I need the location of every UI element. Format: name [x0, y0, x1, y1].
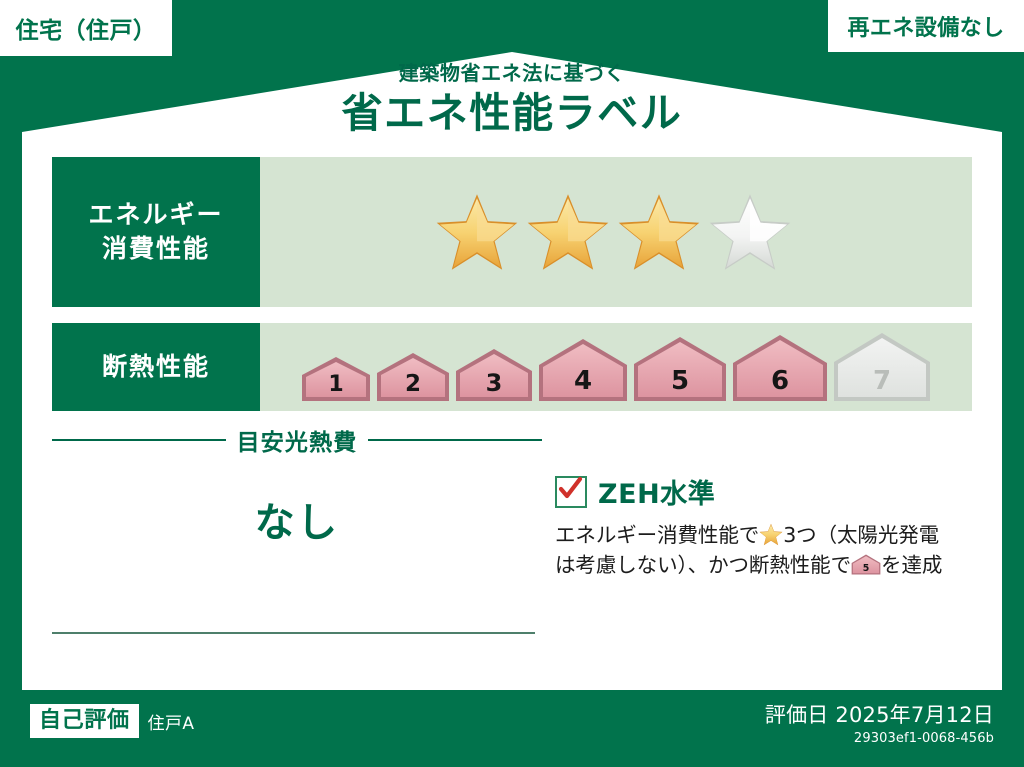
insulation-grade-house-6: 6 [731, 333, 829, 403]
star-icon-filled-2 [526, 191, 610, 273]
svg-text:1: 1 [328, 372, 343, 397]
star-icon-filled-3 [617, 191, 701, 273]
footer: 自己評価 住戸A 評価日 2025年7月12日 29303ef1-0068-45… [0, 690, 1024, 767]
insulation-performance-label: 断熱性能 [52, 323, 260, 411]
insulation-performance-body: 1 2 [260, 323, 972, 411]
utility-cost-bottom-rule [52, 632, 535, 634]
insulation-grade-house-4: 4 [537, 337, 629, 403]
self-evaluation-badge: 自己評価 [30, 704, 139, 738]
insulation-performance-row: 断熱性能 1 [52, 323, 972, 411]
star-icon-filled-1 [435, 191, 519, 273]
energy-performance-label: 住宅（住戸） 再エネ設備なし 建築物省エネ法に基づく 省エネ性能ラベル エネルギ… [0, 0, 1024, 767]
label-card: エネルギー 消費性能 [30, 145, 994, 678]
insulation-grade-house-7: 7 [832, 331, 932, 403]
zeh-title: ZEH水準 [598, 472, 715, 511]
insulation-grade-house-2: 2 [375, 351, 451, 403]
zeh-description-part2: は考慮しない）、かつ断熱性能で [555, 553, 851, 577]
star-icon-inline [759, 523, 783, 546]
footer-left: 自己評価 住戸A [30, 704, 194, 738]
energy-performance-body [260, 157, 972, 307]
svg-text:5: 5 [671, 366, 689, 396]
renewable-equipment-badge-label: 再エネ設備なし [847, 10, 1004, 42]
zeh-description-star-count: 3つ（太陽光発電 [783, 523, 939, 547]
building-type-badge-label: 住宅（住戸） [16, 11, 157, 45]
label-id: 29303ef1-0068-456b [765, 731, 994, 746]
insulation-grade-house-1: 1 [300, 355, 372, 403]
zeh-description-part3: を達成 [881, 553, 942, 577]
svg-text:3: 3 [486, 369, 503, 397]
check-icon [556, 475, 584, 503]
rule-right [368, 439, 542, 441]
svg-text:6: 6 [771, 366, 789, 396]
zeh-title-row: ZEH水準 [555, 472, 975, 511]
insulation-grade-house-3: 3 [454, 347, 534, 403]
renewable-equipment-badge: 再エネ設備なし [828, 0, 1024, 52]
energy-performance-label-line2: 消費性能 [102, 234, 210, 263]
dwelling-name: 住戸A [148, 709, 195, 734]
zeh-standard-block: ZEH水準 エネルギー消費性能で 3つ（太陽光発電は考慮しない）、かつ断熱性能で [555, 472, 975, 581]
svg-text:5: 5 [863, 563, 870, 574]
evaluation-date: 評価日 2025年7月12日 [765, 702, 994, 728]
star-rating [435, 191, 792, 273]
svg-text:2: 2 [405, 371, 421, 397]
energy-performance-row: エネルギー 消費性能 [52, 157, 972, 307]
svg-text:7: 7 [873, 366, 891, 396]
footer-right: 評価日 2025年7月12日 29303ef1-0068-456b [765, 702, 994, 746]
zeh-description-part1: エネルギー消費性能で [555, 523, 759, 547]
building-type-badge: 住宅（住戸） [0, 0, 172, 56]
energy-performance-label-line1: エネルギー [88, 200, 223, 229]
star-icon-empty-4 [708, 191, 792, 273]
utility-cost-heading: 目安光熱費 [237, 423, 358, 457]
svg-text:4: 4 [574, 366, 592, 396]
zeh-description: エネルギー消費性能で 3つ（太陽光発電は考慮しない）、かつ断熱性能で [555, 520, 975, 581]
energy-performance-label: エネルギー 消費性能 [52, 157, 260, 307]
insulation-grade-house-icon-inline: 5 [851, 553, 881, 576]
rule-left [52, 439, 226, 441]
zeh-checkbox[interactable] [555, 476, 587, 508]
insulation-grade-house-5: 5 [632, 335, 728, 403]
insulation-grade-scale: 1 2 [300, 331, 932, 403]
utility-cost-heading-row: 目安光熱費 [52, 423, 542, 457]
utility-cost-value: なし [52, 490, 542, 548]
